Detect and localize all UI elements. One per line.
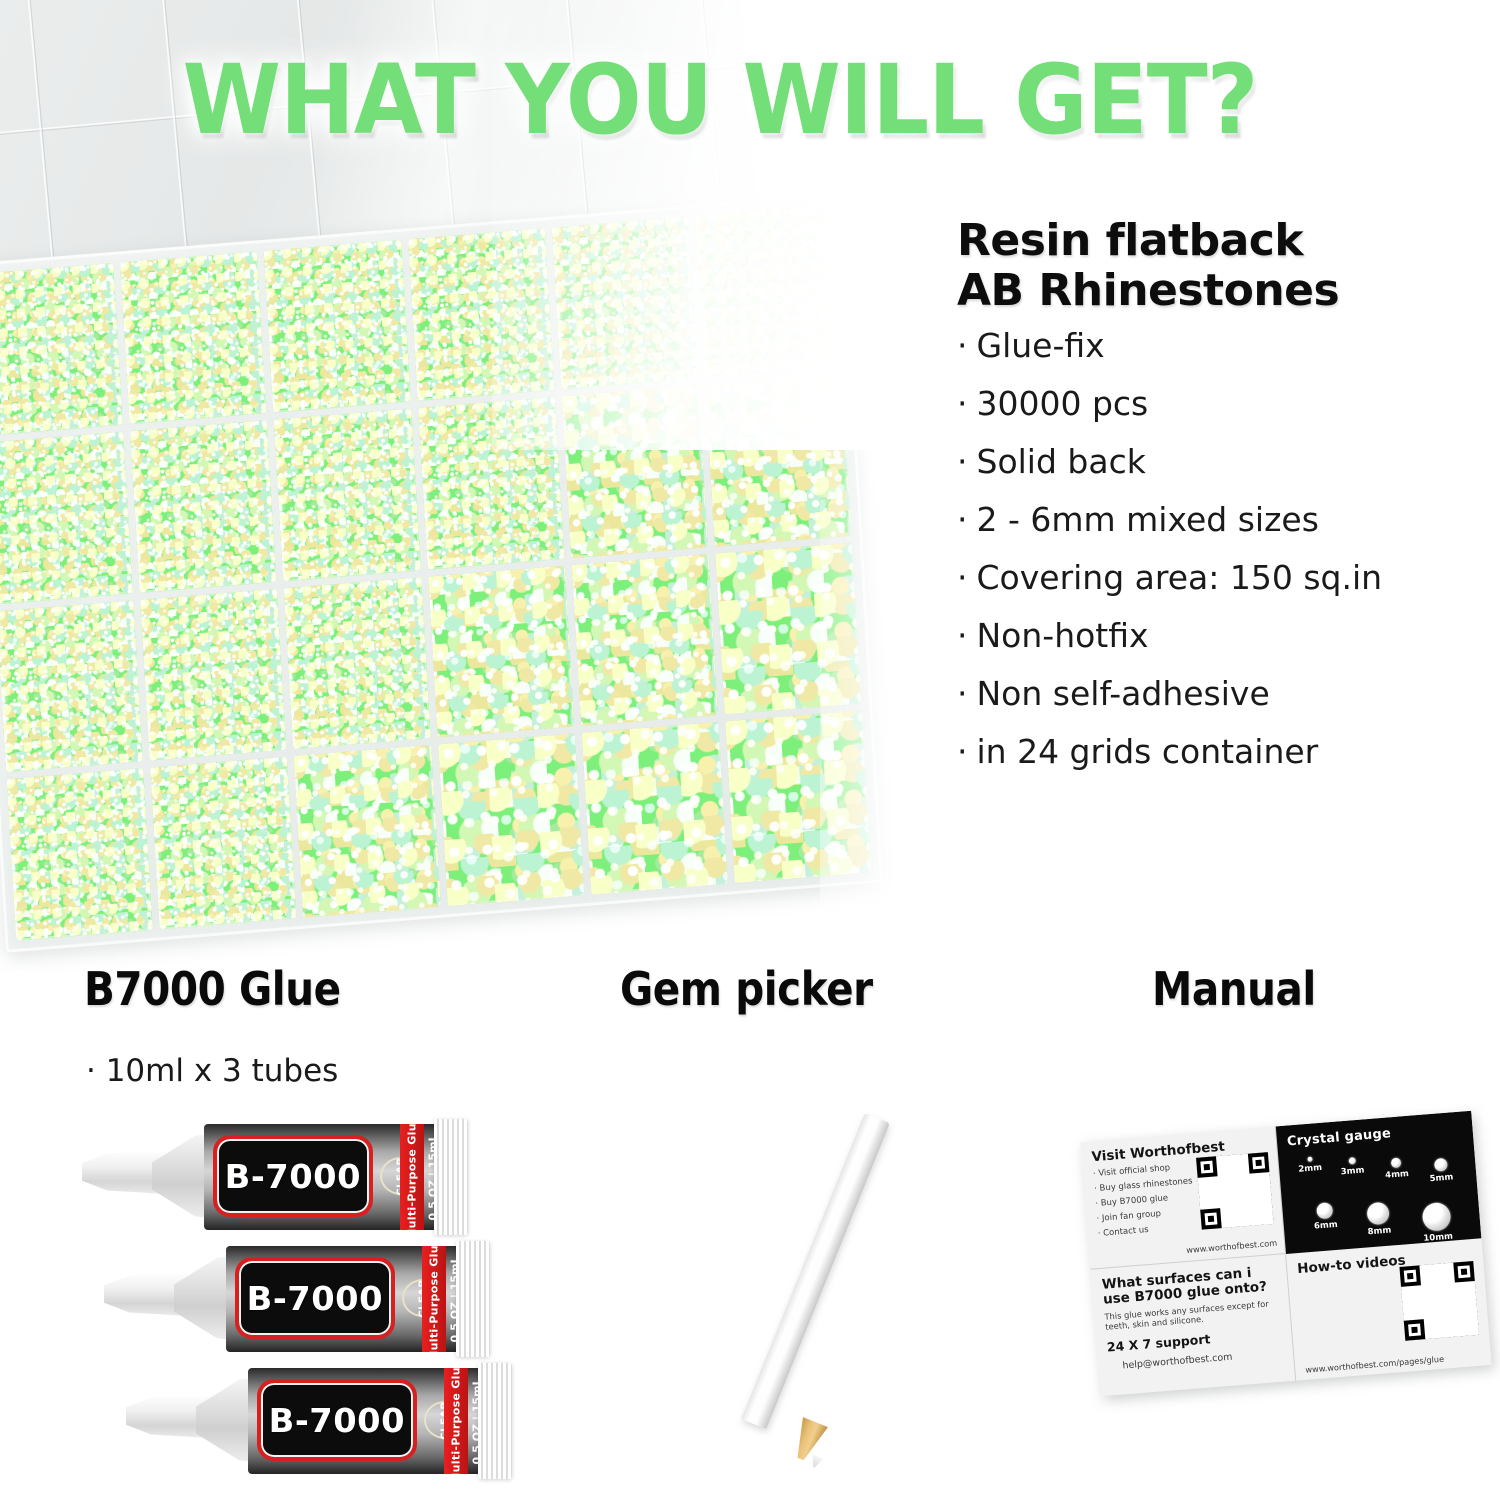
compartment-cell	[140, 588, 286, 761]
glue-tube: B-7000 CLEAR Multi-Purpose Glue 0.5 OZ |…	[82, 1122, 487, 1234]
visit-url: www.worthofbest.com	[1186, 1237, 1278, 1254]
feature-item: ·Non-hotfix	[957, 619, 1497, 652]
bullet-icon: ·	[957, 558, 968, 597]
tube-shoulder	[152, 1134, 212, 1218]
compartment-cell	[571, 554, 717, 727]
compartment-cell	[150, 757, 296, 930]
qr-eye-icon	[1404, 1319, 1426, 1341]
feature-item: ·30000 pcs	[957, 387, 1497, 420]
rhinestone-container-photo	[0, 0, 952, 960]
tube-brand-text: B-7000	[225, 1157, 361, 1196]
glue-tube: B-7000 CLEAR Multi-Purpose Glue 0.5 OZ |…	[104, 1244, 509, 1356]
container-tray	[0, 193, 883, 953]
compartment-cell	[130, 420, 276, 593]
compartment-cell	[438, 734, 584, 907]
compartment-cell	[428, 565, 574, 738]
bullet-icon: ·	[957, 674, 968, 713]
manual-quadrant-crystal-gauge: Crystal gauge 2mm 3mm 4mm 5mm	[1276, 1111, 1482, 1254]
gauge-size-entry: 4mm	[1375, 1156, 1419, 1181]
feature-item: ·in 24 grids container	[957, 735, 1497, 768]
tube-purpose-strip: Multi-Purpose Glue	[400, 1124, 424, 1230]
tube-purpose-strip: Multi-Purpose Glue	[422, 1246, 446, 1352]
compartment-cell	[294, 745, 440, 918]
feature-label: Solid back	[977, 442, 1146, 481]
gauge-size-label: 3mm	[1331, 1165, 1374, 1178]
tube-purpose-text: Multi-Purpose Glue	[406, 1124, 419, 1230]
glue-tubes-photo: B-7000 CLEAR Multi-Purpose Glue 0.5 OZ |…	[0, 1100, 560, 1492]
gauge-size-entry: 10mm	[1407, 1201, 1468, 1246]
gauge-size-label: 8mm	[1352, 1224, 1407, 1238]
feature-label: Non self-adhesive	[977, 674, 1270, 713]
gem-swatch	[1433, 1158, 1447, 1172]
gauge-size-label: 5mm	[1420, 1172, 1463, 1185]
glue-tube: B-7000 CLEAR Multi-Purpose Glue 0.5 OZ |…	[126, 1366, 531, 1478]
compartment-cell	[581, 722, 727, 895]
compartment-cell	[561, 385, 707, 558]
glue-section-heading: B7000 Glue	[84, 962, 341, 1016]
compartment-cell	[418, 397, 564, 570]
gauge-size-label: 6mm	[1300, 1219, 1353, 1233]
gem-swatch	[1366, 1202, 1390, 1226]
gauge-size-entry: 8mm	[1350, 1200, 1407, 1238]
gauge-size-entry: 3mm	[1331, 1156, 1374, 1178]
tube-brand-text: B-7000	[269, 1401, 405, 1440]
tube-crimped-end	[478, 1363, 512, 1479]
bullet-icon: ·	[957, 326, 968, 365]
tube-purpose-strip: Multi-Purpose Glue	[444, 1368, 468, 1474]
compartment-grid	[0, 205, 871, 941]
gauge-size-entry: 6mm	[1298, 1201, 1352, 1233]
qr-eye-icon	[1248, 1152, 1270, 1174]
manual-quadrant-surfaces: What surfaces can i use B7000 glue onto?…	[1091, 1254, 1297, 1397]
product-heading-line-2: AB Rhinestones	[957, 266, 1497, 316]
compartment-cell	[120, 251, 266, 424]
tube-brand-label: B-7000	[235, 1257, 395, 1339]
gauge-size-label: 4mm	[1376, 1168, 1419, 1181]
compartment-cell	[551, 217, 697, 390]
manual-card-photo: Visit Worthofbest · Visit official shop …	[1080, 1111, 1491, 1397]
feature-item: ·Non self-adhesive	[957, 677, 1497, 710]
bullet-icon: ·	[957, 442, 968, 481]
compartment-cell	[408, 228, 554, 401]
feature-item: ·Covering area: 150 sq.in	[957, 561, 1497, 594]
tube-body: B-7000 CLEAR Multi-Purpose Glue 0.5 OZ |…	[226, 1246, 464, 1352]
qr-code-icon	[1399, 1261, 1479, 1341]
manual-section-heading: Manual	[1152, 962, 1316, 1016]
infographic-page: WHAT YOU WILL GET? Resin flatback AB Rhi…	[0, 0, 1500, 1492]
picker-barrel	[741, 1113, 890, 1429]
gem-swatch	[1307, 1157, 1312, 1162]
glue-quantity-label: · 10ml x 3 tubes	[86, 1053, 338, 1089]
tube-purpose-text: Multi-Purpose Glue	[428, 1246, 441, 1352]
bullet-icon: ·	[957, 616, 968, 655]
qr-code-icon	[1196, 1152, 1274, 1230]
feature-label: in 24 grids container	[977, 732, 1319, 771]
compartment-cell	[0, 600, 143, 773]
tube-purpose-text: Multi-Purpose Glue	[450, 1368, 463, 1474]
tube-body: B-7000 CLEAR Multi-Purpose Glue 0.5 OZ |…	[204, 1124, 442, 1230]
tube-shoulder	[196, 1378, 256, 1462]
qr-eye-icon	[1200, 1208, 1222, 1230]
bullet-icon: ·	[957, 732, 968, 771]
manual-quadrant-videos: How-to videos www.worthofbest.com/pages/…	[1286, 1238, 1492, 1381]
feature-item: ·Solid back	[957, 445, 1497, 478]
compartment-cell	[0, 431, 133, 604]
picker-wood-tip	[788, 1417, 828, 1464]
gauge-size-entry: 5mm	[1419, 1157, 1463, 1185]
compartment-cell	[274, 408, 420, 581]
feature-label: Non-hotfix	[977, 616, 1149, 655]
bullet-icon: ·	[957, 500, 968, 539]
manual-quadrant-visit: Visit Worthofbest · Visit official shop …	[1080, 1126, 1286, 1269]
gem-swatch	[1421, 1202, 1451, 1232]
feature-item: ·Glue-fix	[957, 329, 1497, 362]
tube-brand-text: B-7000	[247, 1279, 383, 1318]
feature-list: ·Glue-fix ·30000 pcs ·Solid back ·2 - 6m…	[957, 329, 1497, 768]
gem-swatch	[1391, 1157, 1402, 1168]
product-feature-panel: Resin flatback AB Rhinestones ·Glue-fix …	[957, 216, 1497, 793]
feature-label: 2 - 6mm mixed sizes	[977, 500, 1319, 539]
feature-item: ·2 - 6mm mixed sizes	[957, 503, 1497, 536]
qr-eye-icon	[1453, 1261, 1475, 1283]
tube-body: B-7000 CLEAR Multi-Purpose Glue 0.5 OZ |…	[248, 1368, 486, 1474]
videos-url: www.worthofbest.com/pages/glue	[1305, 1354, 1444, 1375]
product-heading-line-1: Resin flatback	[957, 216, 1497, 266]
qr-eye-icon	[1196, 1156, 1218, 1178]
gauge-size-entry: 2mm	[1288, 1155, 1331, 1175]
tube-shoulder	[174, 1256, 234, 1340]
compartment-cell	[0, 263, 123, 436]
picker-wax-point	[808, 1454, 824, 1470]
compartment-cell	[715, 542, 861, 715]
tube-brand-label: B-7000	[257, 1379, 417, 1461]
feature-label: 30000 pcs	[977, 384, 1149, 423]
compartment-cell	[695, 205, 841, 378]
gem-swatch	[1316, 1202, 1333, 1219]
qr-eye-icon	[1399, 1265, 1421, 1287]
gauge-size-label: 2mm	[1289, 1162, 1332, 1175]
gem-swatch	[1348, 1157, 1356, 1165]
compartment-cell	[7, 768, 153, 941]
tube-crimped-end	[456, 1241, 490, 1357]
compartment-cell	[264, 240, 410, 413]
feature-label: Covering area: 150 sq.in	[977, 558, 1383, 597]
compartment-cell	[725, 711, 871, 884]
feature-label: Glue-fix	[977, 326, 1105, 365]
compartment-cell	[705, 374, 851, 547]
picker-section-heading: Gem picker	[620, 962, 873, 1016]
compartment-cell	[284, 577, 430, 750]
tube-crimped-end	[434, 1119, 468, 1235]
bullet-icon: ·	[957, 384, 968, 423]
tube-brand-label: B-7000	[213, 1135, 373, 1217]
gem-picker-photo	[690, 1100, 950, 1470]
